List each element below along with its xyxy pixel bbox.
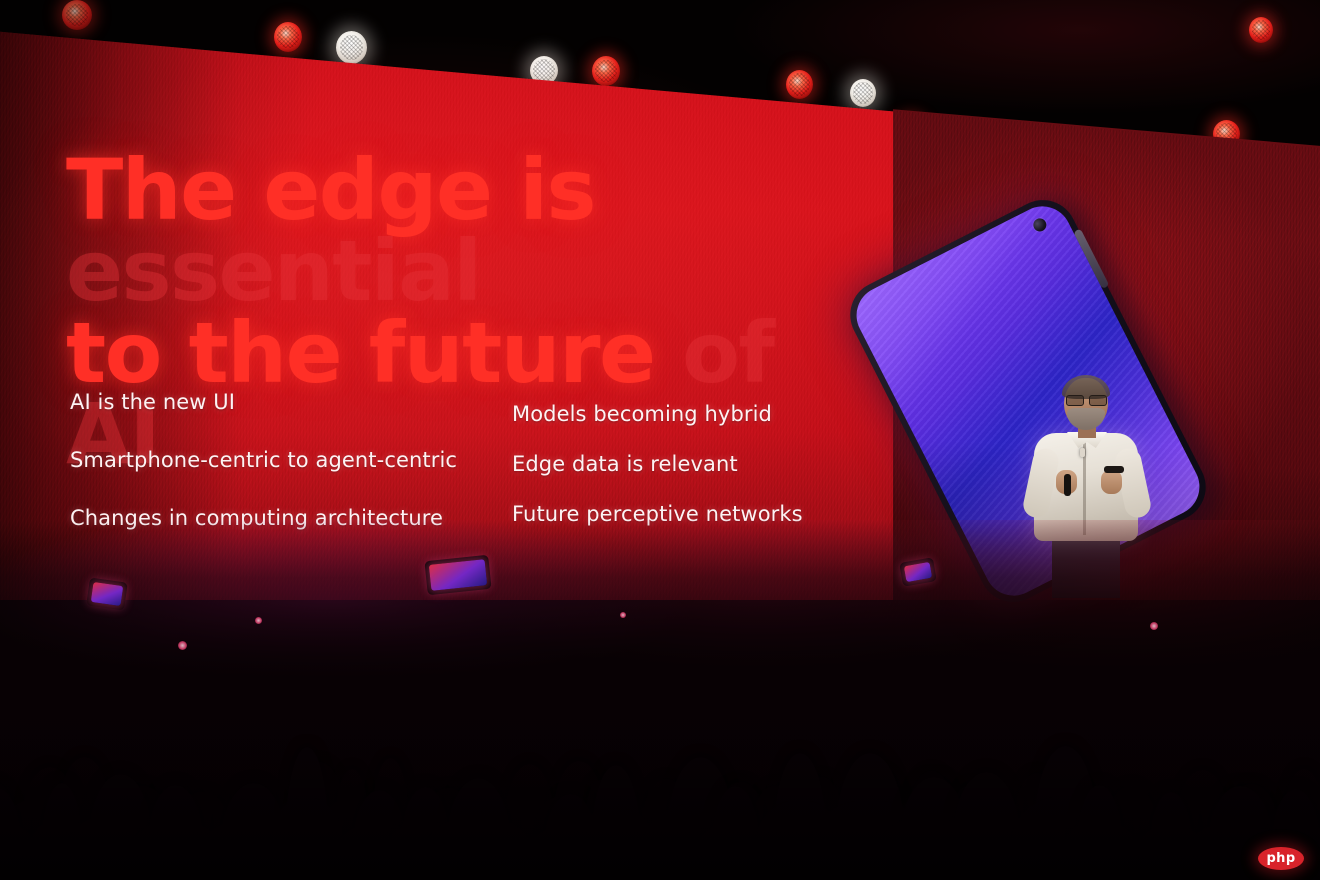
presentation-slide: The edge is essential to the future of A… — [0, 0, 900, 600]
audience-light-glint — [1150, 622, 1158, 630]
headline-part-2: essential — [66, 222, 481, 320]
audience-person — [0, 788, 21, 880]
audience-light-glint — [255, 617, 262, 624]
audience-phone-screen — [91, 582, 123, 606]
glasses-icon — [1066, 395, 1107, 404]
presenter-hand-right — [1101, 470, 1122, 494]
bullet-item: AI is the new UI — [70, 390, 500, 414]
presenter-clicker — [1064, 474, 1071, 496]
presenter-watch — [1104, 466, 1124, 473]
bullet-item: Models becoming hybrid — [512, 402, 892, 426]
bullet-item: Smartphone-centric to agent-centric — [70, 448, 500, 472]
php-watermark-logo: php — [1258, 847, 1304, 870]
bullet-item: Edge data is relevant — [512, 452, 892, 476]
watermark-text: php — [1266, 852, 1295, 865]
audience-silhouettes — [0, 520, 1320, 880]
lapel-mic-icon — [1080, 448, 1085, 457]
presenter-beard — [1067, 408, 1105, 430]
audience-light-glint — [178, 641, 187, 650]
stage-photo: The edge is essential to the future of A… — [0, 0, 1320, 880]
audience-light-glint — [620, 612, 626, 618]
